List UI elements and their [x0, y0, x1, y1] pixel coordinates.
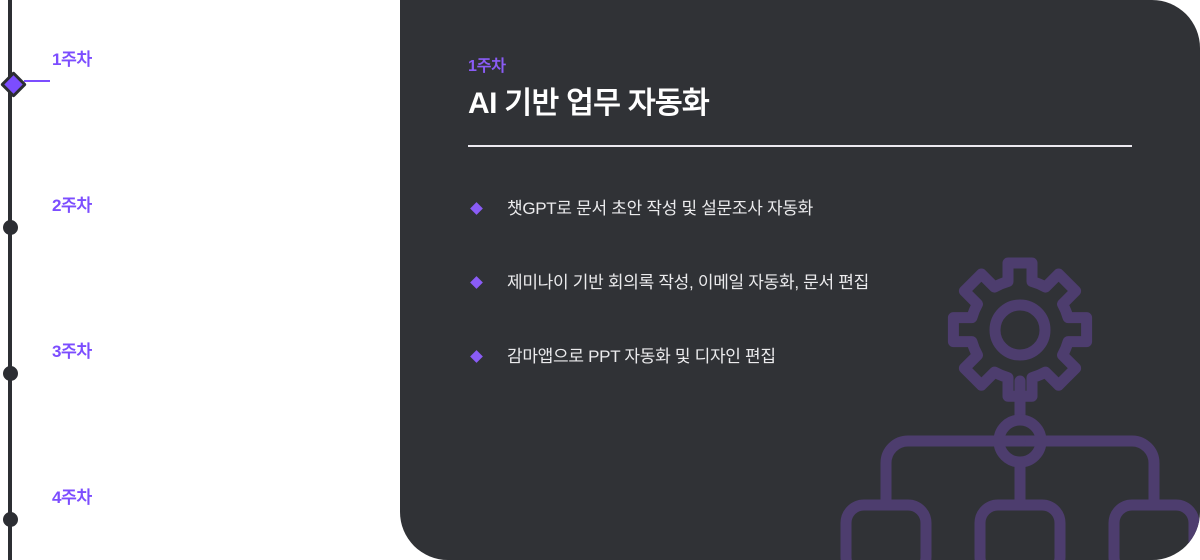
timeline-marker-active-diamond-icon [0, 71, 26, 98]
list-item: 감마앱으로 PPT 자동화 및 디자인 편집 [468, 346, 1132, 368]
list-item: 제미나이 기반 회의록 작성, 이메일 자동화, 문서 편집 [468, 272, 1132, 294]
list-item: 챗GPT로 문서 초안 작성 및 설문조사 자동화 [468, 198, 1132, 220]
list-item-text: 감마앱으로 PPT 자동화 및 디자인 편집 [507, 346, 776, 368]
bullet-diamond-icon [470, 350, 483, 363]
list-item-text: 제미나이 기반 회의록 작성, 이메일 자동화, 문서 편집 [507, 272, 869, 294]
timeline-label-week-1: 1주차 [52, 45, 92, 70]
card-title: AI 기반 업무 자동화 [468, 86, 1132, 122]
card-eyebrow-week: 1주차 [468, 52, 1132, 76]
timeline-marker-dot-icon [3, 220, 18, 235]
slide-root: 1주차 2주차 3주차 4주차 [0, 0, 1200, 560]
week-timeline: 1주차 2주차 3주차 4주차 [0, 0, 400, 560]
card-divider [468, 145, 1132, 147]
list-item-text: 챗GPT로 문서 초안 작성 및 설문조사 자동화 [507, 198, 813, 220]
bullet-diamond-icon [470, 276, 483, 289]
card-body: 1주차 AI 기반 업무 자동화 챗GPT로 문서 초안 작성 및 설문조사 자… [400, 0, 1200, 368]
timeline-label-week-2: 2주차 [52, 191, 92, 216]
card-bullet-list: 챗GPT로 문서 초안 작성 및 설문조사 자동화 제미나이 기반 회의록 작성… [468, 198, 1132, 368]
timeline-label-week-3: 3주차 [52, 337, 92, 362]
timeline-marker-dot-icon [3, 366, 18, 381]
timeline-label-week-4: 4주차 [52, 483, 92, 508]
timeline-marker-dot-icon [3, 512, 18, 527]
bullet-diamond-icon [470, 202, 483, 215]
timeline-connector-line [24, 80, 50, 82]
week-detail-card: 1주차 AI 기반 업무 자동화 챗GPT로 문서 초안 작성 및 설문조사 자… [400, 0, 1200, 560]
